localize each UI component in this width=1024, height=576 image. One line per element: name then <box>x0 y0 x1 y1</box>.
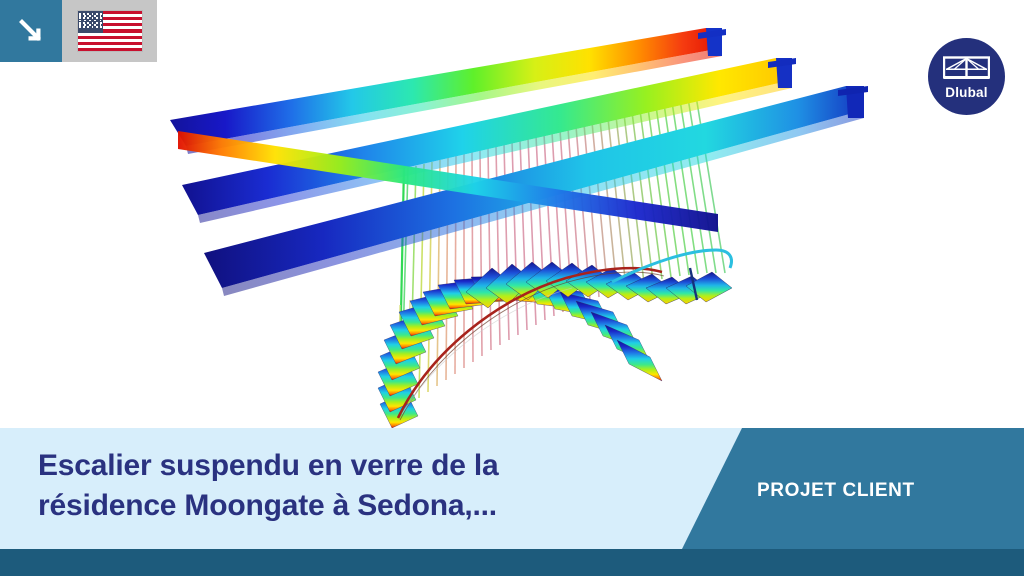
truss-frame-icon <box>943 54 990 84</box>
slide-canvas: Dlubal Escalier suspendu en verre de la … <box>0 0 1024 576</box>
caption-line-1: Escalier suspendu en verre de la <box>38 449 499 482</box>
spiral-staircase <box>378 250 732 428</box>
project-caption: Escalier suspendu en verre de la résiden… <box>38 446 658 525</box>
language-selector[interactable] <box>62 0 157 62</box>
download-badge[interactable] <box>0 0 62 62</box>
caption-band: Escalier suspendu en verre de la résiden… <box>0 428 1024 549</box>
us-flag-icon <box>78 11 142 51</box>
dlubal-logo[interactable]: Dlubal <box>928 38 1005 115</box>
footer-bar <box>0 549 1024 576</box>
logo-wordmark: Dlubal <box>945 86 987 100</box>
caption-line-2: résidence Moongate à Sedona,... <box>38 486 658 526</box>
arrow-down-right-icon <box>16 16 46 46</box>
category-tag-label: PROJET CLIENT <box>757 480 987 502</box>
